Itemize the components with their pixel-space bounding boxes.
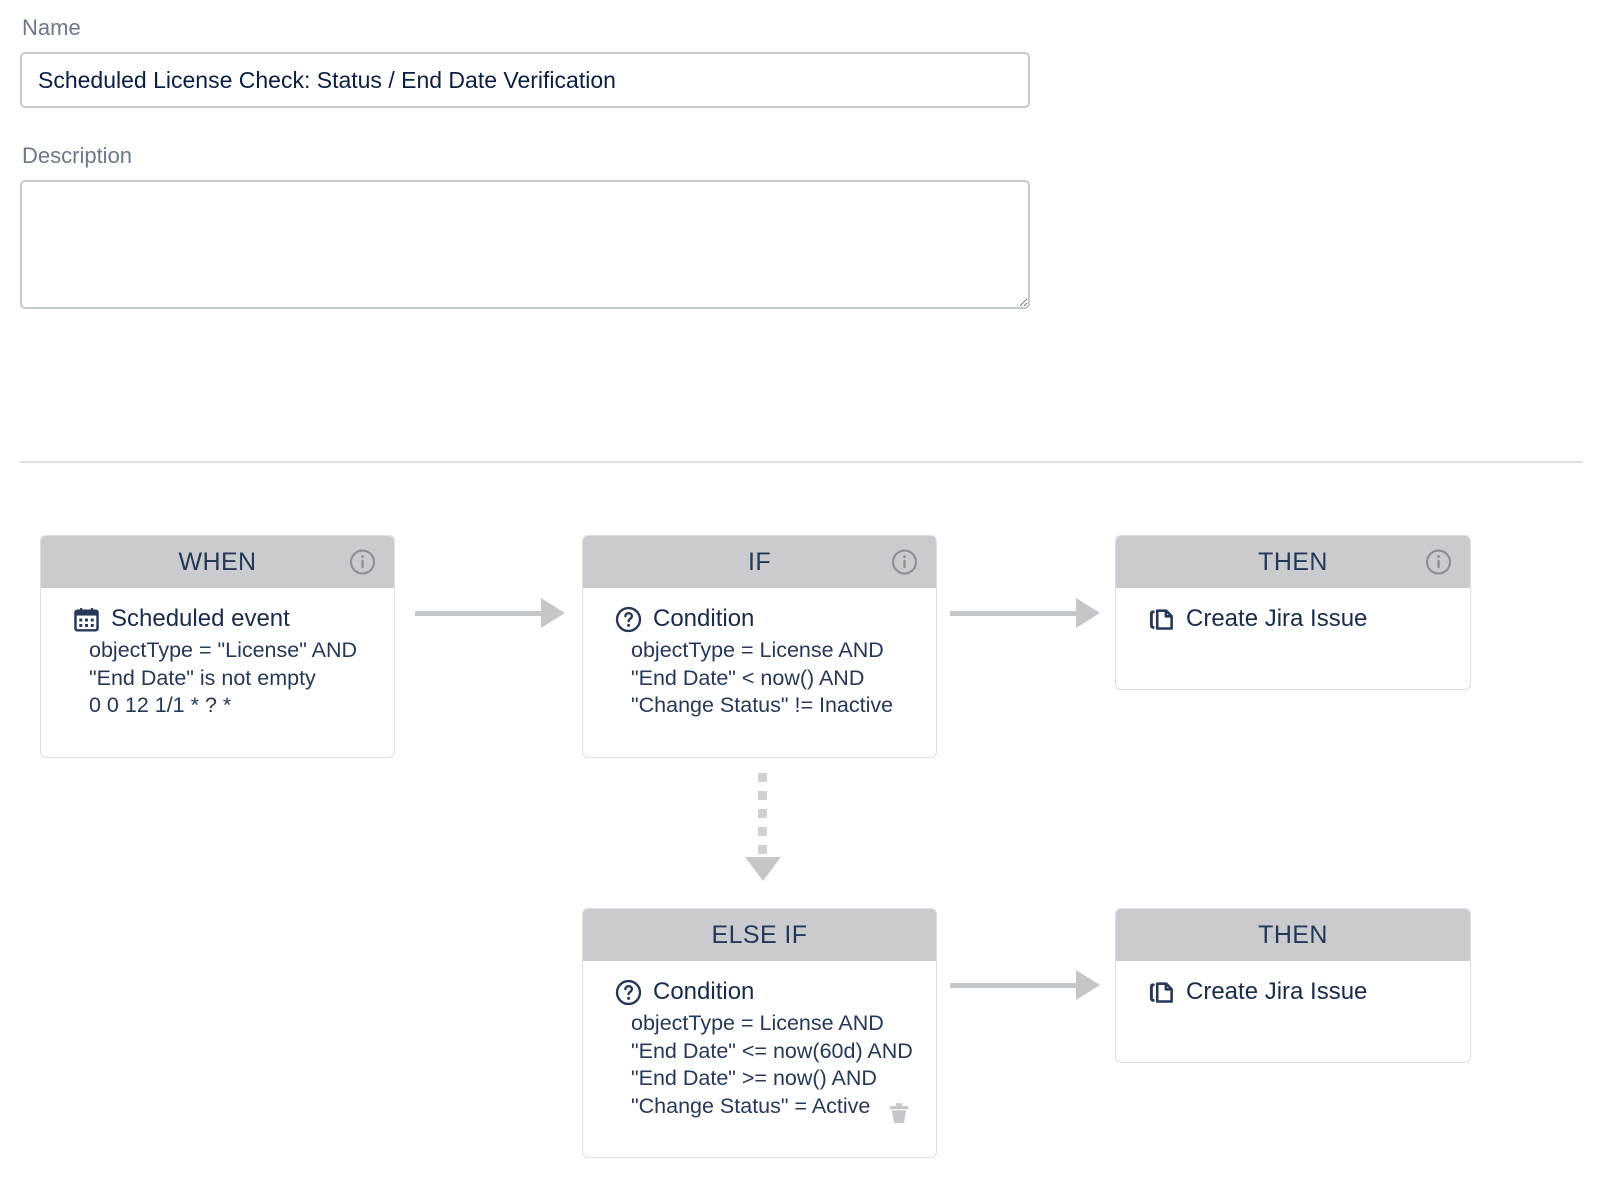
trash-icon[interactable] — [886, 1100, 912, 1126]
detail-line: objectType = "License" AND — [89, 637, 394, 665]
flow-card-then-1[interactable]: THEN — [1115, 535, 1471, 690]
card-row-label-else-if: Condition — [653, 977, 754, 1007]
card-row-when: Scheduled event — [41, 604, 394, 634]
card-details-when: objectType = "License" AND "End Date" is… — [41, 637, 394, 720]
connector-if-to-then — [950, 598, 1100, 628]
info-circle-icon[interactable] — [891, 549, 918, 576]
detail-line: "End Date" < now() AND — [631, 665, 936, 693]
copy-documents-icon — [1148, 606, 1175, 633]
card-title-when: WHEN — [179, 548, 257, 577]
card-title-then-2: THEN — [1258, 921, 1328, 950]
detail-line: "End Date" is not empty — [89, 665, 394, 693]
card-body-then-2: Create Jira Issue — [1116, 961, 1470, 1021]
connector-shaft — [950, 983, 1076, 988]
copy-documents-icon — [1148, 979, 1175, 1006]
connector-shaft — [950, 611, 1076, 616]
question-circle-icon — [615, 606, 642, 633]
info-circle-icon[interactable] — [1425, 549, 1452, 576]
card-row-else-if: Condition — [583, 977, 936, 1007]
connector-arrowhead — [1076, 598, 1100, 628]
detail-line: "Change Status" != Inactive — [631, 692, 936, 720]
detail-line: objectType = License AND — [631, 637, 936, 665]
info-circle-icon[interactable] — [349, 549, 376, 576]
card-row-then-1: Create Jira Issue — [1116, 604, 1470, 634]
detail-line: 0 0 12 1/1 * ? * — [89, 692, 394, 720]
card-body-when: Scheduled event objectType = "License" A… — [41, 588, 394, 734]
card-row-then-2: Create Jira Issue — [1116, 977, 1470, 1007]
card-title-else-if: ELSE IF — [712, 921, 808, 950]
card-header-then-2: THEN — [1116, 909, 1470, 961]
card-header-then-1: THEN — [1116, 536, 1470, 588]
question-circle-icon — [615, 979, 642, 1006]
connector-else-if-to-then — [950, 970, 1100, 1000]
card-row-if: Condition — [583, 604, 936, 634]
card-row-label-when: Scheduled event — [111, 604, 290, 634]
card-header-when: WHEN — [41, 536, 394, 588]
connector-when-to-if — [415, 598, 565, 628]
card-details-if: objectType = License AND "End Date" < no… — [583, 637, 936, 720]
flow-card-if[interactable]: IF — [582, 535, 937, 758]
detail-line: "End Date" <= now(60d) AND — [631, 1038, 936, 1066]
card-body-else-if: Condition objectType = License AND "End … — [583, 961, 936, 1134]
card-body-if: Condition objectType = License AND "End … — [583, 588, 936, 734]
detail-line: "End Date" >= now() AND — [631, 1065, 936, 1093]
card-header-if: IF — [583, 536, 936, 588]
connector-arrowhead — [745, 857, 781, 881]
card-row-label-if: Condition — [653, 604, 754, 634]
rule-flow-canvas: WHEN — [0, 0, 1604, 1200]
flow-card-then-2[interactable]: THEN Create Jira Issue — [1115, 908, 1471, 1063]
connector-dashed-shaft — [758, 773, 767, 857]
card-row-label-then-2: Create Jira Issue — [1186, 977, 1367, 1007]
card-header-else-if: ELSE IF — [583, 909, 936, 961]
automation-rule-editor: Name Description WHEN — [0, 0, 1604, 1200]
connector-shaft — [415, 611, 541, 616]
detail-line: objectType = License AND — [631, 1010, 936, 1038]
flow-card-when[interactable]: WHEN — [40, 535, 395, 758]
connector-arrowhead — [1076, 970, 1100, 1000]
connector-if-to-else-if — [745, 773, 781, 883]
calendar-icon — [73, 606, 100, 633]
flow-card-else-if[interactable]: ELSE IF Condition objectType = License A… — [582, 908, 937, 1158]
connector-arrowhead — [541, 598, 565, 628]
card-details-else-if: objectType = License AND "End Date" <= n… — [583, 1010, 936, 1120]
card-title-if: IF — [748, 548, 771, 577]
card-title-then-1: THEN — [1258, 548, 1328, 577]
card-body-then-1: Create Jira Issue — [1116, 588, 1470, 648]
card-row-label-then-1: Create Jira Issue — [1186, 604, 1367, 634]
